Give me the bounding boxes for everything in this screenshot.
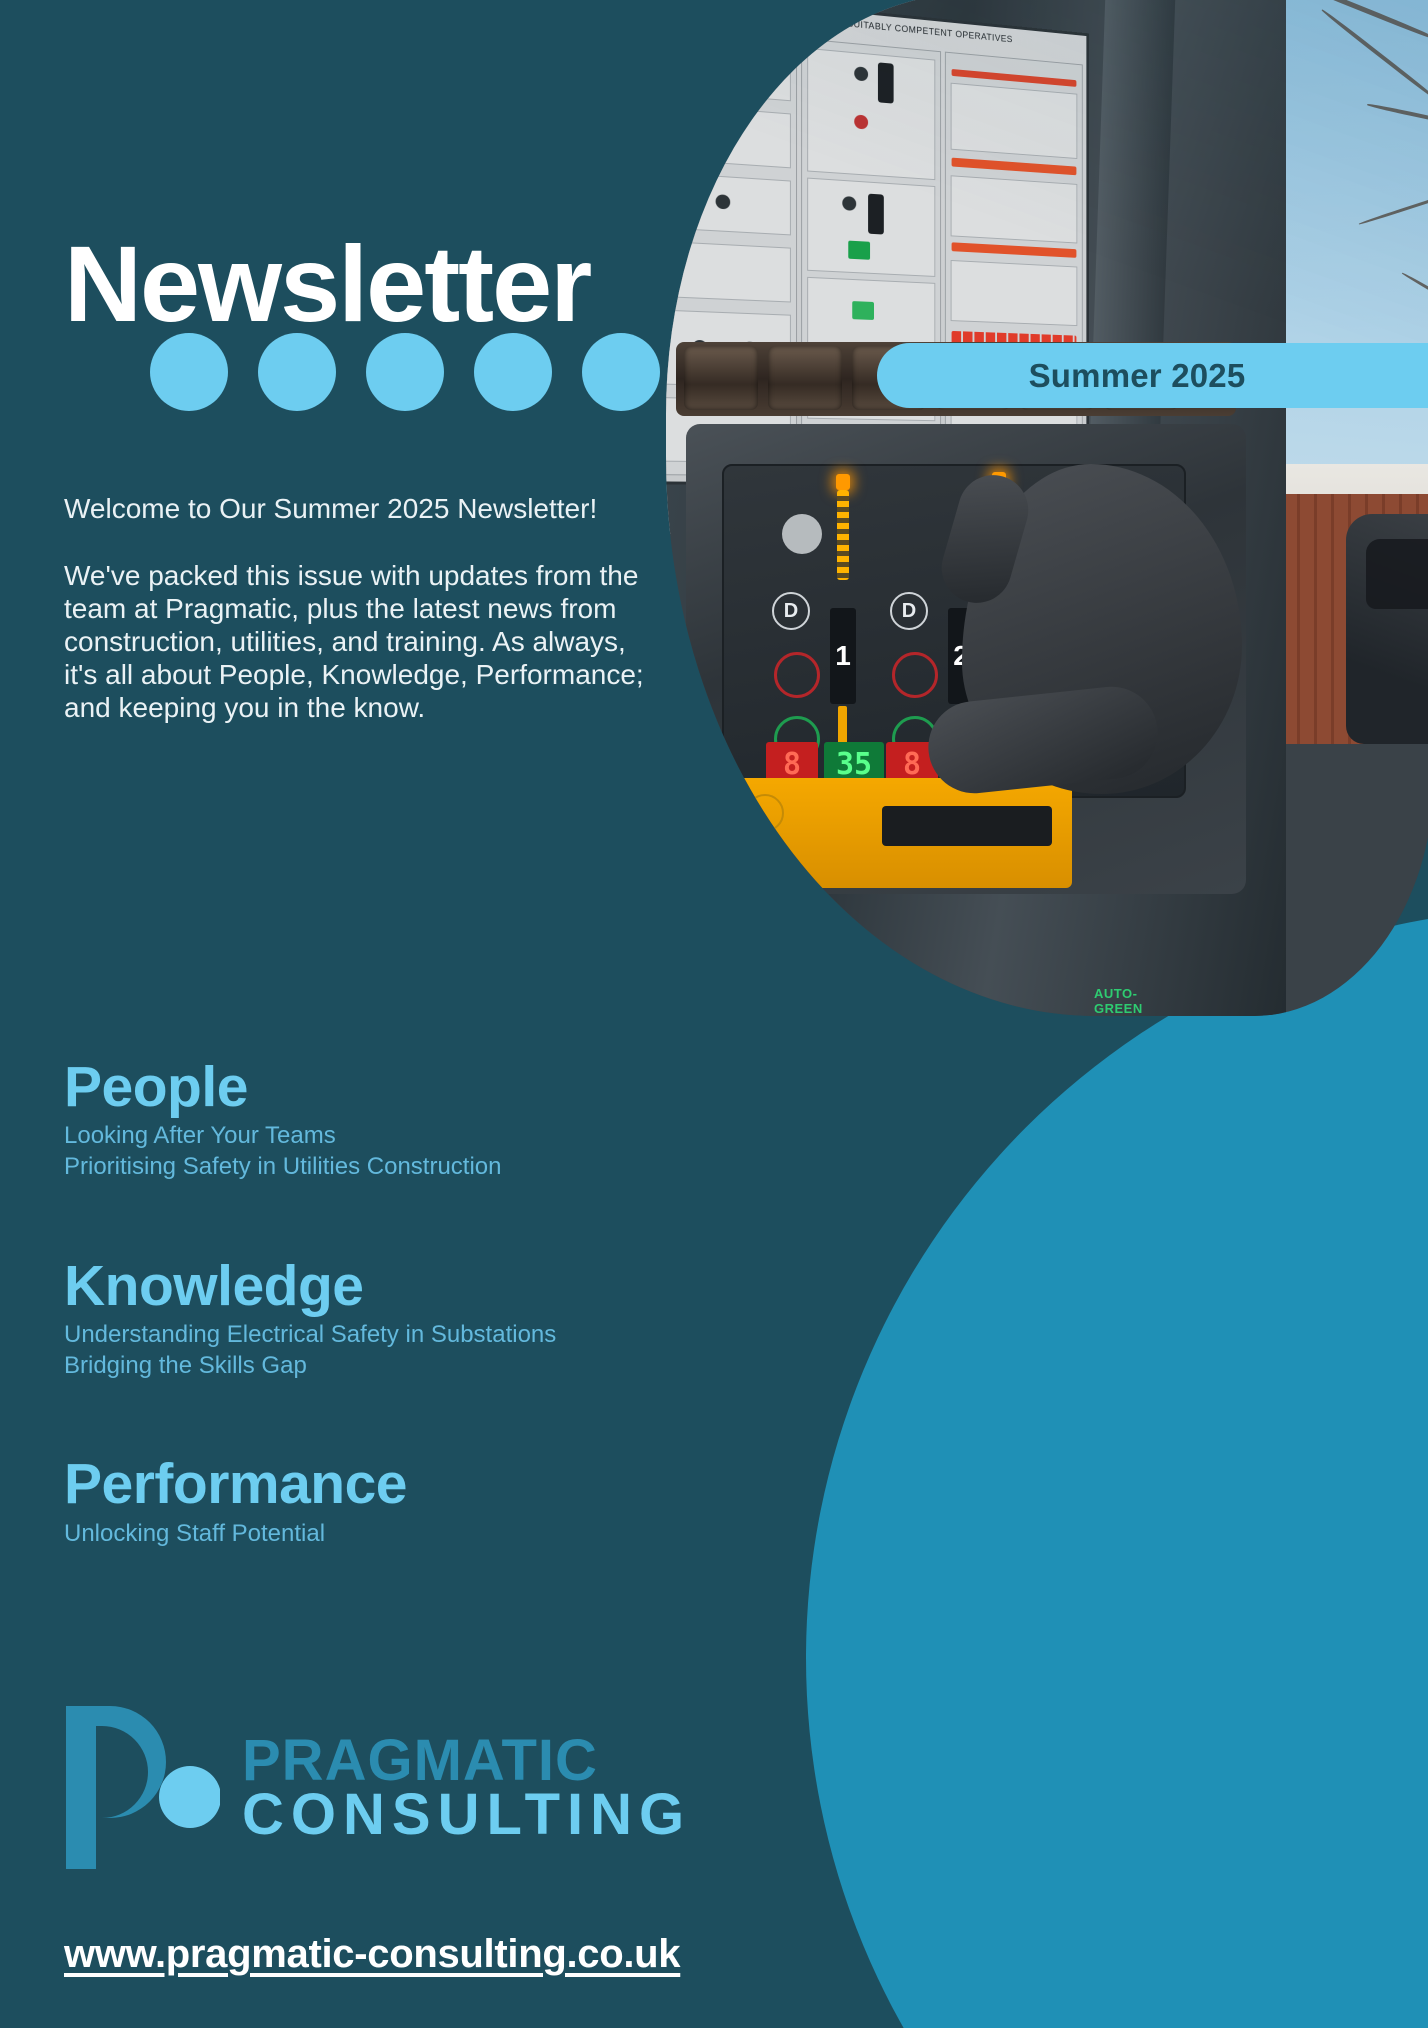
contents-list: People Looking After Your Teams Prioriti… [64,1058,824,1549]
website-link[interactable]: www.pragmatic-consulting.co.uk [64,1932,680,1977]
brand-logo: PRAGMATIC CONSULTING [62,1700,691,1875]
decorative-dot [474,333,552,411]
pillar-performance: Performance Unlocking Staff Potential [64,1455,824,1549]
photo-panel-knob [782,514,822,554]
decorative-dot [366,333,444,411]
pillar-knowledge: Knowledge Understanding Electrical Safet… [64,1257,824,1382]
pillar-article[interactable]: Looking After Your Teams [64,1121,824,1152]
pillar-article[interactable]: Prioritising Safety in Utilities Constru… [64,1152,824,1183]
decorative-dot [150,333,228,411]
issue-badge-label: Summer 2025 [1029,357,1246,395]
decorative-dot [582,333,660,411]
intro-paragraph-1: Welcome to Our Summer 2025 Newsletter! [64,492,664,525]
page-title: Newsletter [64,230,590,338]
photo-car-window [1366,539,1428,609]
decorative-dot-row [150,333,660,411]
brand-word-pragmatic: PRAGMATIC [242,1734,691,1787]
pillar-title: Knowledge [64,1257,824,1316]
pc-monogram-icon [62,1700,220,1875]
pillar-title: Performance [64,1455,824,1514]
decorative-dot [258,333,336,411]
intro-copy: Welcome to Our Summer 2025 Newsletter! W… [64,492,664,724]
newsletter-page: ONLY BE INSTALLED AND ADJUSTED BY SUITAB… [0,0,1428,2028]
pillar-article[interactable]: Bridging the Skills Gap [64,1351,824,1382]
pillar-people: People Looking After Your Teams Prioriti… [64,1058,824,1183]
decorative-circle-large [806,908,1428,2028]
pillar-title: People [64,1058,824,1117]
issue-badge: Summer 2025 [877,343,1428,408]
pillar-article[interactable]: Understanding Electrical Safety in Subst… [64,1320,824,1351]
photo-yellow-tray [732,778,1072,888]
pillar-article[interactable]: Unlocking Staff Potential [64,1519,824,1550]
brand-wordmark: PRAGMATIC CONSULTING [242,1734,691,1841]
brand-word-consulting: CONSULTING [242,1788,691,1841]
photo-brand-label: AUTO-GREEN [1094,986,1184,1016]
cover-photo: ONLY BE INSTALLED AND ADJUSTED BY SUITAB… [666,0,1428,1016]
intro-paragraph-2: We've packed this issue with updates fro… [64,559,664,724]
